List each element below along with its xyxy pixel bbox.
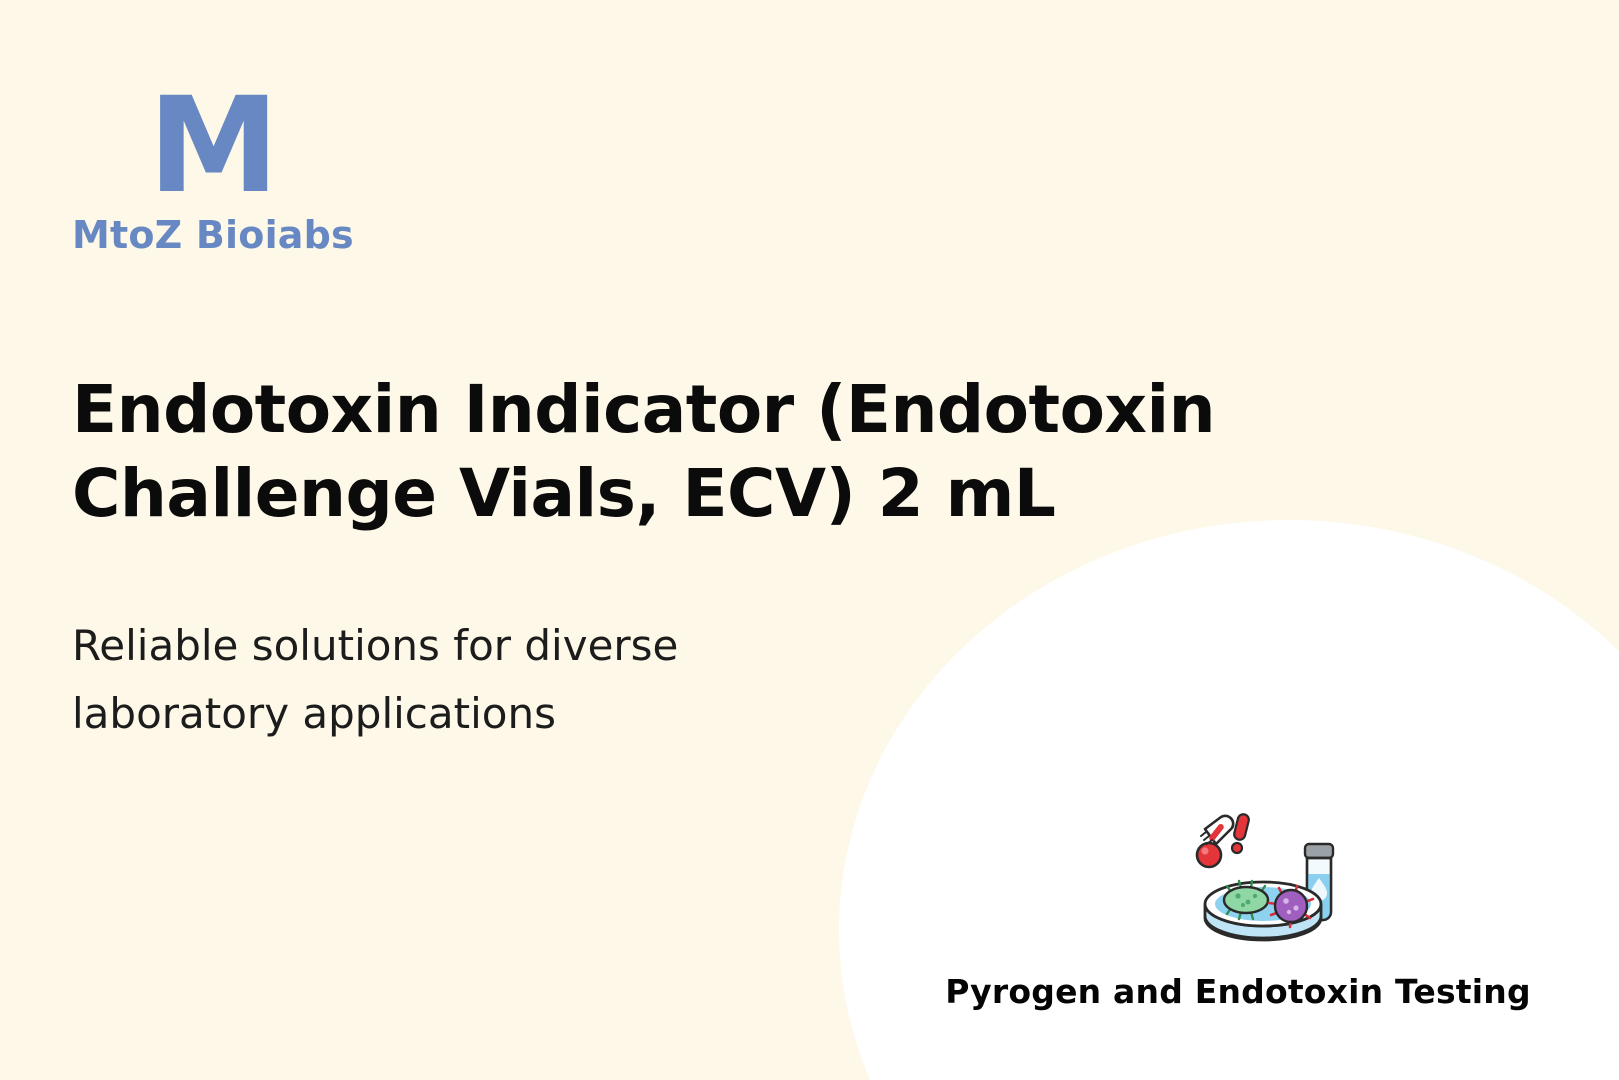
thermometer-icon [1197,816,1233,867]
hero-content: Endotoxin Indicator (Endotoxin Challenge… [72,368,1402,748]
page-title: Endotoxin Indicator (Endotoxin Challenge… [72,368,1382,536]
pyrogen-testing-illustration [1175,800,1351,960]
page-subtitle: Reliable solutions for diverse laborator… [72,612,872,748]
brand-logo: M MtoZ Bioiabs [72,86,354,257]
logo-wordmark: MtoZ Bioiabs [72,213,354,257]
figure-caption: Pyrogen and Endotoxin Testing [938,972,1538,1011]
exclamation-mark-icon [1232,813,1250,853]
logo-monogram-icon: M [148,86,354,207]
petri-dish-icon [1205,881,1321,940]
